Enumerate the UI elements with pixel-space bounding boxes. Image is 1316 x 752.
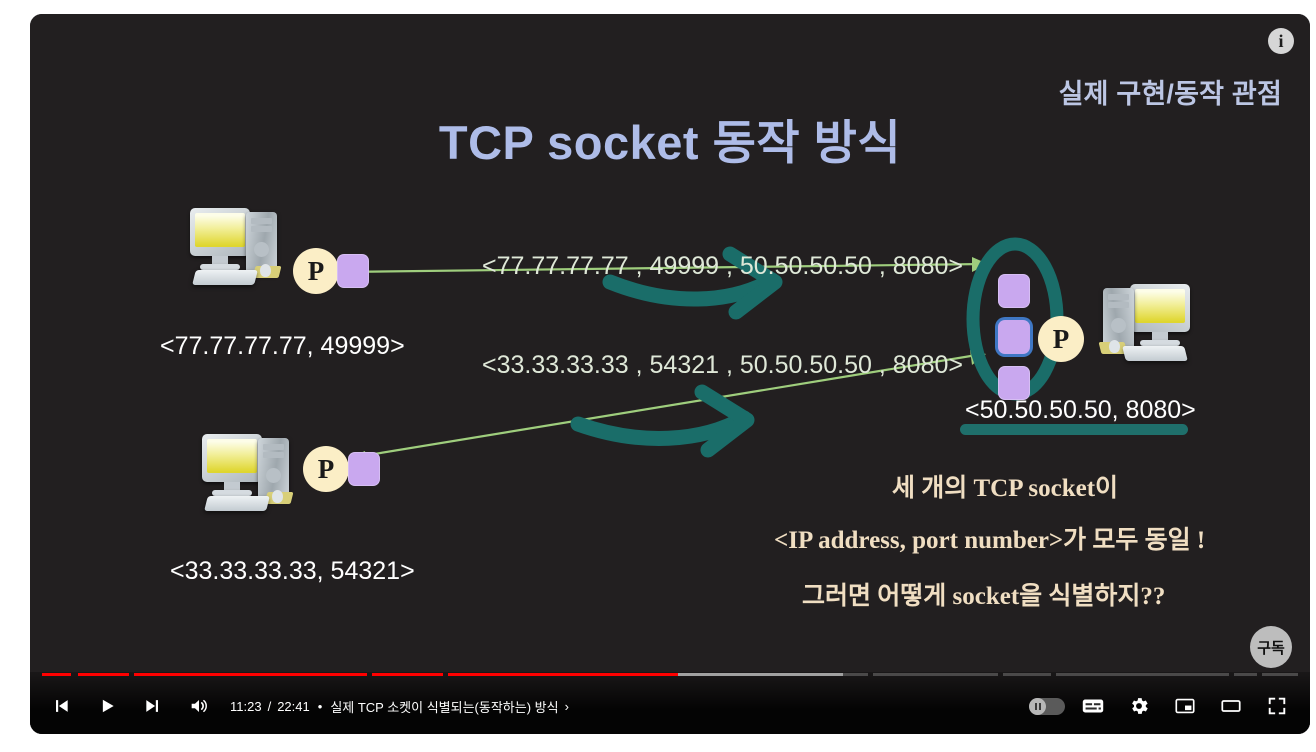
time-separator: / (268, 699, 272, 714)
tuple-top: <77.77.77.77 , 49999 , 50.50.50.50 , 808… (482, 252, 963, 281)
fullscreen-button[interactable] (1254, 683, 1300, 729)
subtitles-button[interactable] (1070, 683, 1116, 729)
server-socket-3 (998, 366, 1030, 400)
keyboard (1122, 346, 1188, 361)
next-icon (143, 696, 163, 716)
server-process-label: P (1053, 324, 1070, 355)
client-bottom-process-label: P (318, 454, 335, 485)
current-time: 11:23 (230, 699, 262, 714)
play-button[interactable] (84, 683, 130, 729)
slide-title: TCP socket 동작 방식 (30, 104, 1310, 173)
progress-chapter-8[interactable] (1056, 673, 1229, 676)
screen (207, 439, 257, 473)
progress-chapter-5[interactable] (448, 673, 869, 676)
monitor (1130, 284, 1190, 332)
video-stage[interactable]: i 실제 구현/동작 관점 TCP socket 동작 방식 (30, 14, 1310, 734)
play-icon (97, 696, 117, 716)
teal-arrow-lower-head (702, 392, 747, 450)
fullscreen-icon (1266, 695, 1288, 717)
computer-tower (1103, 288, 1134, 350)
server-address-underline (960, 424, 1188, 435)
client-top-process-circle: P (293, 248, 339, 294)
teal-arrow-lower (578, 418, 744, 438)
player-controls[interactable]: 11:23 / 22:41 • 실제 TCP 소켓이 식별되는(동작하는) 방식… (30, 672, 1310, 734)
progress-bar[interactable] (42, 672, 1298, 676)
client-bottom-computer-icon (202, 432, 306, 516)
keyboard (204, 496, 270, 511)
theater-mode-button[interactable] (1208, 683, 1254, 729)
tuple-bottom: <33.33.33.33 , 54321 , 50.50.50.50 , 808… (482, 351, 963, 380)
server-computer-icon (1086, 282, 1190, 366)
server-process-circle: P (1038, 316, 1084, 362)
arrowhead-bottom-server (970, 350, 986, 365)
client-bottom-socket (348, 452, 380, 486)
progress-chapter-6[interactable] (873, 673, 997, 676)
info-icon[interactable]: i (1268, 28, 1294, 54)
theater-icon (1220, 695, 1242, 717)
autoplay-toggle-button[interactable] (1024, 683, 1070, 729)
progress-played (42, 673, 71, 676)
client-bottom-address: <33.33.33.33, 54321> (170, 557, 415, 586)
total-time: 22:41 (277, 699, 310, 714)
miniplayer-icon (1174, 695, 1196, 717)
note-line-3: 그러면 어떻게 socket을 식별하지?? (802, 576, 1165, 612)
client-top-computer-icon (190, 206, 294, 290)
client-bottom: P (202, 432, 306, 516)
previous-button[interactable] (38, 683, 84, 729)
server-socket-2-listening (998, 320, 1030, 354)
keyboard (192, 270, 258, 285)
autoplay-toggle-knob (1029, 698, 1046, 715)
client-top: P (190, 206, 294, 290)
teal-arrow-upper (610, 280, 772, 299)
progress-played (134, 673, 368, 676)
progress-played (448, 673, 678, 676)
client-top-socket (337, 254, 369, 288)
client-top-process-label: P (308, 256, 325, 287)
time-and-chapter[interactable]: 11:23 / 22:41 • 실제 TCP 소켓이 식별되는(동작하는) 방식… (230, 697, 569, 716)
progress-chapter-2[interactable] (78, 673, 128, 676)
gear-icon (1128, 695, 1150, 717)
progress-played (372, 673, 442, 676)
mouse-icon (272, 490, 283, 503)
control-row: 11:23 / 22:41 • 실제 TCP 소켓이 식별되는(동작하는) 방식… (30, 682, 1310, 730)
monitor (190, 208, 250, 256)
miniplayer-button[interactable] (1162, 683, 1208, 729)
mouse-icon (1109, 340, 1120, 353)
info-icon-glyph: i (1278, 31, 1283, 52)
subscribe-watermark-label: 구독 (1257, 637, 1285, 658)
right-controls (1024, 683, 1310, 729)
monitor (202, 434, 262, 482)
left-controls: 11:23 / 22:41 • 실제 TCP 소켓이 식별되는(동작하는) 방식… (30, 683, 569, 729)
youtube-player[interactable]: i 실제 구현/동작 관점 TCP socket 동작 방식 (30, 14, 1310, 734)
chevron-right-icon[interactable]: › (565, 699, 569, 714)
next-button[interactable] (130, 683, 176, 729)
progress-played (78, 673, 128, 676)
chapter-bullet: • (318, 699, 323, 714)
arrowhead-top-server (972, 257, 988, 272)
server-socket-1 (998, 274, 1030, 308)
page-background-text (30, 738, 1030, 752)
progress-chapter-10[interactable] (1262, 673, 1298, 676)
client-bottom-process-circle: P (303, 446, 349, 492)
volume-button[interactable] (176, 683, 222, 729)
page-root: i 실제 구현/동작 관점 TCP socket 동작 방식 (0, 0, 1316, 752)
screen (1135, 289, 1185, 323)
mouse-icon (260, 264, 271, 277)
progress-chapter-4[interactable] (372, 673, 442, 676)
chapter-title[interactable]: 실제 TCP 소켓이 식별되는(동작하는) 방식 (330, 697, 558, 716)
screen (195, 213, 245, 247)
progress-chapter-1[interactable] (42, 673, 71, 676)
client-top-address: <77.77.77.77, 49999> (160, 332, 405, 361)
note-line-2: <IP address, port number>가 모두 동일 ! (774, 520, 1205, 556)
previous-icon (51, 696, 71, 716)
progress-chapter-7[interactable] (1003, 673, 1051, 676)
subscribe-watermark-button[interactable]: 구독 (1250, 626, 1292, 668)
autoplay-toggle-icon[interactable] (1029, 698, 1065, 715)
subtitles-icon (1080, 693, 1106, 719)
pause-bar-left (1035, 703, 1037, 710)
note-line-1: 세 개의 TCP socket이 (892, 468, 1118, 504)
pause-bar-right (1039, 703, 1041, 710)
server-address: <50.50.50.50, 8080> (965, 396, 1196, 425)
progress-chapter-3[interactable] (134, 673, 368, 676)
progress-chapter-9[interactable] (1234, 673, 1257, 676)
volume-icon (188, 695, 210, 717)
settings-button[interactable] (1116, 683, 1162, 729)
